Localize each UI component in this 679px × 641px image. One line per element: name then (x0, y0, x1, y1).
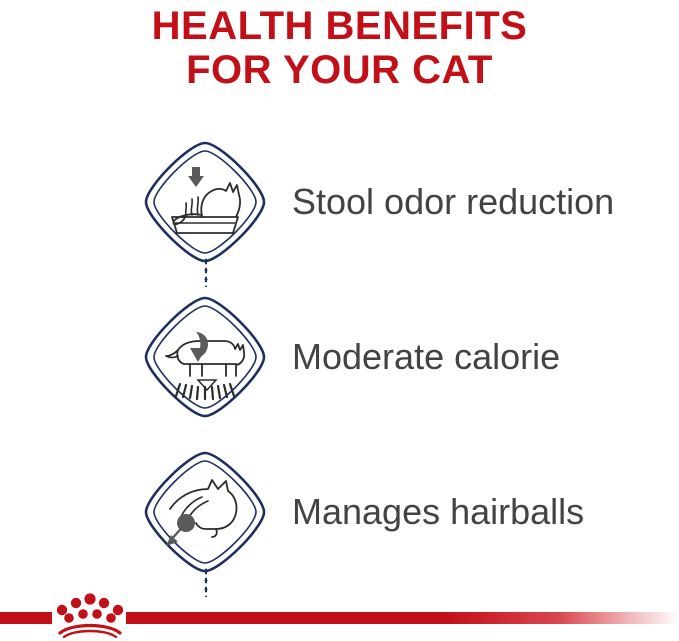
benefit-row: Stool odor reduction (0, 124, 679, 279)
bottom-rule-left (0, 612, 52, 624)
benefits-list: Stool odor reduction (0, 124, 679, 589)
cat-litter-box-icon (140, 137, 270, 267)
benefit-label: Moderate calorie (292, 336, 560, 378)
cat-on-scale-icon (140, 292, 270, 422)
page-title: HEALTH BENEFITS FOR YOUR CAT (0, 0, 679, 92)
royal-canin-crown-logo (52, 588, 128, 638)
benefit-label: Stool odor reduction (292, 181, 614, 223)
bottom-rule-right (126, 612, 679, 624)
benefit-row: Manages hairballs (0, 434, 679, 589)
benefit-row: Moderate calorie (0, 279, 679, 434)
cat-hairball-icon (140, 447, 270, 577)
page-title-line-1: HEALTH BENEFITS (0, 4, 679, 48)
page-title-line-2: FOR YOUR CAT (0, 48, 679, 92)
benefit-label: Manages hairballs (292, 491, 584, 533)
